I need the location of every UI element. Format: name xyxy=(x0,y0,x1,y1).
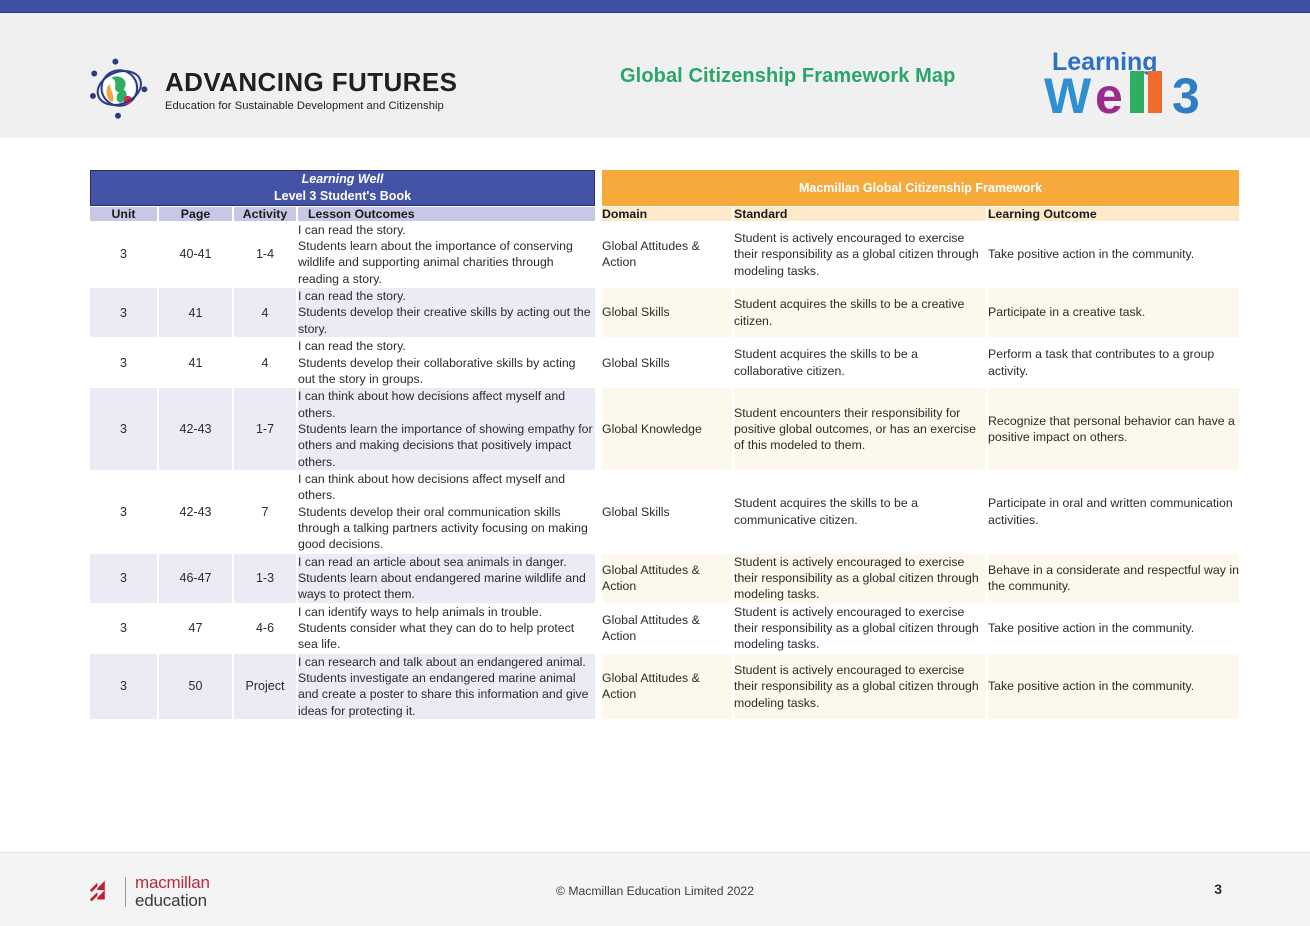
table-row: 346-471-3I can read an article about sea… xyxy=(90,554,1239,603)
col-header-learning-outcome: Learning Outcome xyxy=(988,207,1239,221)
framework-map-table: Learning Well Level 3 Student's Book Mac… xyxy=(88,169,1241,720)
col-header-domain: Domain xyxy=(602,207,732,221)
cell-learning-outcome: Recognize that personal behavior can hav… xyxy=(988,388,1239,470)
cell-unit: 3 xyxy=(90,604,157,653)
cell-unit: 3 xyxy=(90,288,157,337)
cell-learning-outcome: Take positive action in the community. xyxy=(988,222,1239,287)
column-gap xyxy=(597,207,600,221)
cell-learning-outcome: Participate in a creative task. xyxy=(988,288,1239,337)
cell-standard: Student encounters their responsibility … xyxy=(734,388,986,470)
cell-standard: Student is actively encouraged to exerci… xyxy=(734,222,986,287)
framework-table-wrapper: Learning Well Level 3 Student's Book Mac… xyxy=(88,169,1223,720)
cell-standard: Student acquires the skills to be a coll… xyxy=(734,338,986,387)
cell-page: 42-43 xyxy=(159,471,232,553)
cell-standard: Student is actively encouraged to exerci… xyxy=(734,654,986,719)
cell-learning-outcome: Behave in a considerate and respectful w… xyxy=(988,554,1239,603)
advancing-futures-brand: ADVANCING FUTURES Education for Sustaina… xyxy=(85,55,457,126)
cell-domain: Global Skills xyxy=(602,338,732,387)
copyright-text: © Macmillan Education Limited 2022 xyxy=(0,884,1310,898)
cell-activity: 4-6 xyxy=(234,604,296,653)
cell-page: 41 xyxy=(159,338,232,387)
cell-activity: 4 xyxy=(234,288,296,337)
cell-unit: 3 xyxy=(90,654,157,719)
cell-activity: 4 xyxy=(234,338,296,387)
cell-lesson-outcomes: I can think about how decisions affect m… xyxy=(298,471,595,553)
cell-page: 50 xyxy=(159,654,232,719)
cell-page: 46-47 xyxy=(159,554,232,603)
table-row: 350ProjectI can research and talk about … xyxy=(90,654,1239,719)
cell-learning-outcome: Perform a task that contributes to a gro… xyxy=(988,338,1239,387)
cell-domain: Global Skills xyxy=(602,288,732,337)
cell-page: 40-41 xyxy=(159,222,232,287)
cell-lesson-outcomes: I can read the story.Students develop th… xyxy=(298,288,595,337)
cell-activity: Project xyxy=(234,654,296,719)
cell-activity: 1-3 xyxy=(234,554,296,603)
col-header-unit: Unit xyxy=(90,207,157,221)
cell-learning-outcome: Take positive action in the community. xyxy=(988,604,1239,653)
group-header-lw-line1: Learning Well xyxy=(91,171,594,188)
cell-domain: Global Attitudes & Action xyxy=(602,554,732,603)
cell-lesson-outcomes: I can read the story.Students learn abou… xyxy=(298,222,595,287)
cell-lesson-outcomes: I can research and talk about an endange… xyxy=(298,654,595,719)
cell-page: 42-43 xyxy=(159,388,232,470)
table-row: 3474-6I can identify ways to help animal… xyxy=(90,604,1239,653)
cell-unit: 3 xyxy=(90,388,157,470)
cell-page: 41 xyxy=(159,288,232,337)
logo-letter-l2 xyxy=(1148,71,1162,113)
column-gap xyxy=(597,654,600,719)
group-header-row: Learning Well Level 3 Student's Book Mac… xyxy=(90,170,1239,206)
learning-well-logo-svg: Learning W e 3 xyxy=(1038,43,1238,125)
column-gap xyxy=(597,471,600,553)
logo-letter-e: e xyxy=(1095,68,1123,124)
cell-lesson-outcomes: I can read the story.Students develop th… xyxy=(298,338,595,387)
column-gap xyxy=(597,288,600,337)
cell-page: 47 xyxy=(159,604,232,653)
cell-lesson-outcomes: I can read an article about sea animals … xyxy=(298,554,595,603)
page-header: ADVANCING FUTURES Education for Sustaina… xyxy=(0,13,1310,138)
cell-standard: Student acquires the skills to be a crea… xyxy=(734,288,986,337)
table-row: 342-431-7I can think about how decisions… xyxy=(90,388,1239,470)
table-row: 340-411-4I can read the story.Students l… xyxy=(90,222,1239,287)
cell-standard: Student is actively encouraged to exerci… xyxy=(734,604,986,653)
table-head: Learning Well Level 3 Student's Book Mac… xyxy=(90,170,1239,221)
cell-domain: Global Attitudes & Action xyxy=(602,222,732,287)
group-header-learning-well: Learning Well Level 3 Student's Book xyxy=(90,170,595,206)
group-header-macmillan-framework: Macmillan Global Citizenship Framework xyxy=(602,170,1239,206)
brand-title: ADVANCING FUTURES xyxy=(165,69,457,96)
cell-activity: 1-7 xyxy=(234,388,296,470)
cell-domain: Global Skills xyxy=(602,471,732,553)
column-gap xyxy=(597,338,600,387)
cell-unit: 3 xyxy=(90,554,157,603)
top-accent-bar xyxy=(0,0,1310,13)
column-header-row: Unit Page Activity Lesson Outcomes Domai… xyxy=(90,207,1239,221)
table-row: 3414I can read the story.Students develo… xyxy=(90,288,1239,337)
table-row: 342-437I can think about how decisions a… xyxy=(90,471,1239,553)
page-title: Global Citizenship Framework Map xyxy=(620,65,955,88)
brand-subtitle: Education for Sustainable Development an… xyxy=(165,100,457,112)
page-number: 3 xyxy=(1214,881,1222,897)
globe-icon xyxy=(85,55,151,126)
table-row: 3414I can read the story.Students develo… xyxy=(90,338,1239,387)
cell-standard: Student acquires the skills to be a comm… xyxy=(734,471,986,553)
cell-domain: Global Attitudes & Action xyxy=(602,654,732,719)
column-gap xyxy=(597,170,600,206)
globe-icon-svg xyxy=(85,55,151,121)
cell-learning-outcome: Take positive action in the community. xyxy=(988,654,1239,719)
cell-lesson-outcomes: I can identify ways to help animals in t… xyxy=(298,604,595,653)
logo-letter-l1 xyxy=(1130,71,1144,113)
cell-activity: 7 xyxy=(234,471,296,553)
col-header-page: Page xyxy=(159,207,232,221)
table-body: 340-411-4I can read the story.Students l… xyxy=(90,222,1239,719)
col-header-lesson-outcomes: Lesson Outcomes xyxy=(298,207,595,221)
cell-lesson-outcomes: I can think about how decisions affect m… xyxy=(298,388,595,470)
cell-domain: Global Attitudes & Action xyxy=(602,604,732,653)
group-header-lw-line2: Level 3 Student's Book xyxy=(274,189,411,203)
brand-text-block: ADVANCING FUTURES Education for Sustaina… xyxy=(165,69,457,111)
cell-activity: 1-4 xyxy=(234,222,296,287)
column-gap xyxy=(597,554,600,603)
col-header-standard: Standard xyxy=(734,207,986,221)
column-gap xyxy=(597,604,600,653)
cell-unit: 3 xyxy=(90,338,157,387)
cell-standard: Student is actively encouraged to exerci… xyxy=(734,554,986,603)
cell-unit: 3 xyxy=(90,222,157,287)
col-header-activity: Activity xyxy=(234,207,296,221)
cell-unit: 3 xyxy=(90,471,157,553)
column-gap xyxy=(597,222,600,287)
logo-letter-w: W xyxy=(1044,68,1092,124)
cell-domain: Global Knowledge xyxy=(602,388,732,470)
cell-learning-outcome: Participate in oral and written communic… xyxy=(988,471,1239,553)
logo-level-3: 3 xyxy=(1172,68,1200,124)
column-gap xyxy=(597,388,600,470)
